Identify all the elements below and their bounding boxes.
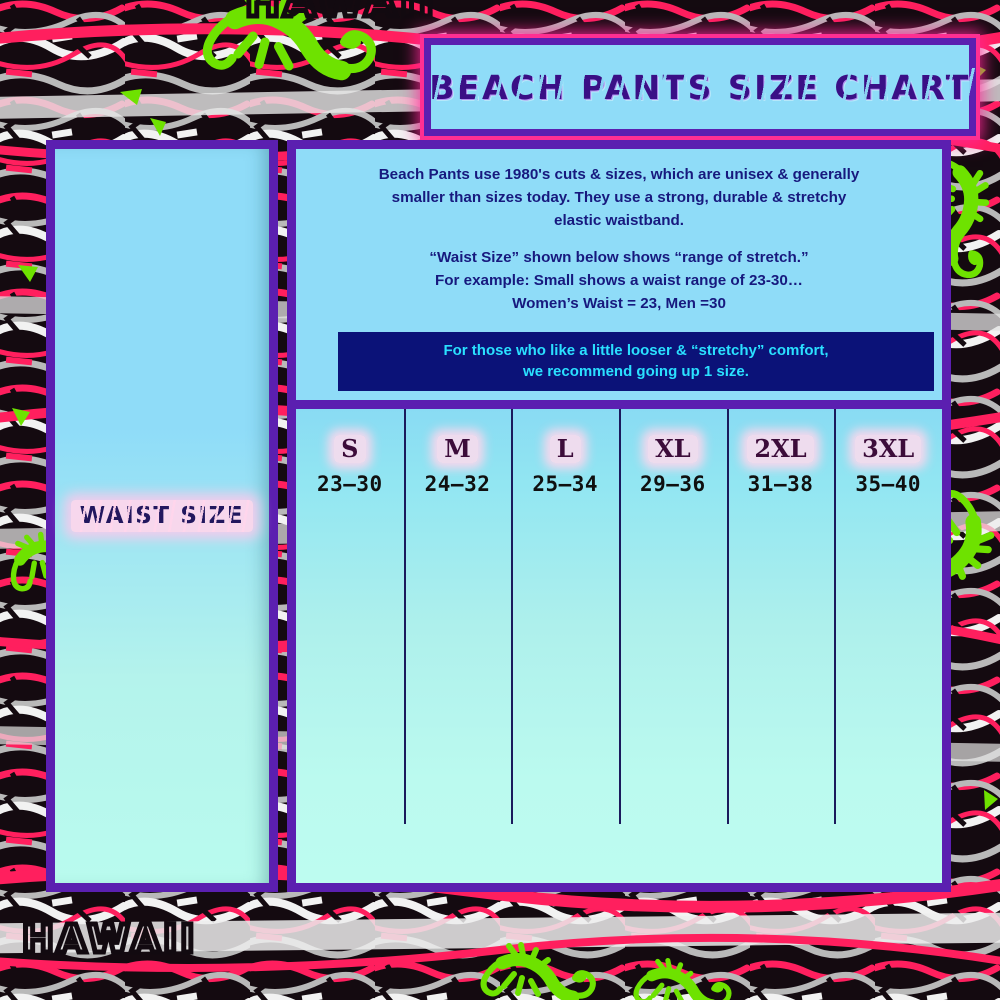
waist-range: 31–38 [727, 472, 835, 496]
size-column-m: M 24–32 [404, 409, 512, 883]
waist-size-label: WAIST SIZE [71, 500, 253, 532]
waist-range: 23–30 [296, 472, 404, 496]
recommendation-line-1: For those who like a little looser & “st… [348, 340, 924, 361]
info-line: “Waist Size” shown below shows “range of… [310, 246, 928, 269]
info-line: Beach Pants use 1980's cuts & sizes, whi… [310, 163, 928, 186]
size-label: XL [648, 435, 698, 463]
size-column-s: S 23–30 [296, 409, 404, 883]
size-column-3xl: 3XL 35–40 [834, 409, 942, 883]
recommendation-banner: For those who like a little looser & “st… [338, 332, 934, 392]
waist-size-panel: WAIST SIZE [46, 140, 278, 892]
info-spacer [310, 232, 928, 246]
size-column-2xl: 2XL 31–38 [727, 409, 835, 883]
size-column-xl: XL 29–36 [619, 409, 727, 883]
waist-range: 29–36 [619, 472, 727, 496]
size-label: 3XL [855, 435, 921, 463]
size-table: S 23–30 M 24–32 L 25–34 XL 29–36 2XL 31–… [296, 409, 942, 883]
size-column-l: L 25–34 [511, 409, 619, 883]
info-line: elastic waistband. [310, 209, 928, 232]
recommendation-line-2: we recommend going up 1 size. [348, 361, 924, 382]
size-label: M [437, 435, 478, 463]
waist-range: 35–40 [834, 472, 942, 496]
waist-range: 25–34 [511, 472, 619, 496]
page-title: BEACH PANTS SIZE CHART [429, 68, 970, 107]
info-line: Women’s Waist = 23, Men =30 [310, 292, 928, 315]
info-line: smaller than sizes today. They use a str… [310, 186, 928, 209]
waist-range: 24–32 [404, 472, 512, 496]
size-label: S [334, 435, 365, 463]
info-section: Beach Pants use 1980's cuts & sizes, whi… [296, 149, 942, 324]
info-and-table-panel: Beach Pants use 1980's cuts & sizes, whi… [287, 140, 951, 892]
size-chart-stage: BEACH PANTS SIZE CHART WAIST SIZE Beach … [0, 0, 1000, 1000]
info-line: For example: Small shows a waist range o… [310, 269, 928, 292]
section-divider [296, 400, 942, 409]
size-label: L [550, 435, 581, 463]
chart-title-box: BEACH PANTS SIZE CHART [424, 38, 976, 136]
size-label: 2XL [747, 435, 813, 463]
